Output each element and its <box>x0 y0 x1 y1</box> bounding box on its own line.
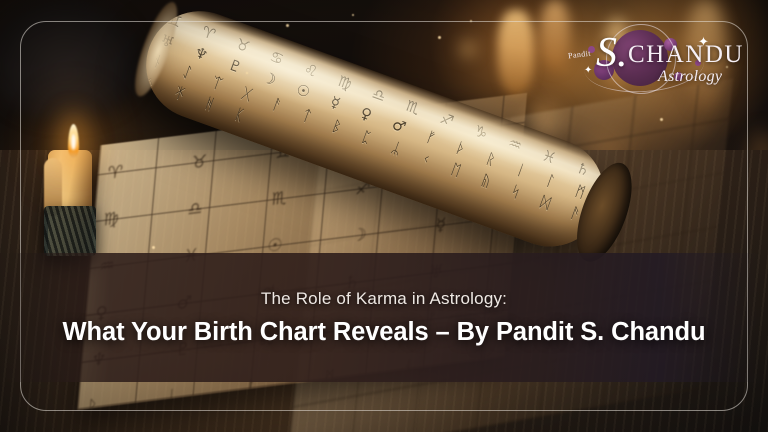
lit-candle <box>42 128 98 256</box>
sparkle <box>152 246 155 249</box>
logo-tagline-text: Astrology <box>658 68 722 86</box>
hero-banner: ♈ ♉ ♊ ♋ ♌ ♍ ♎ ♏ ♐ ♑ ♒ ♓ ☉ ☽ ☿ ♀ ♂ ♃ ♄ ♅ … <box>0 0 768 432</box>
sparkle <box>438 36 441 39</box>
title-overlay-band: The Role of Karma in Astrology: What You… <box>0 253 768 382</box>
bokeh-glow <box>456 34 480 64</box>
background-candle <box>498 10 534 96</box>
sparkle <box>660 118 663 121</box>
sparkle <box>470 20 472 22</box>
brand-logo[interactable]: ✦ ✦ Pandit S. CHANDU Astrology <box>566 24 738 96</box>
candle-rope-wrap <box>44 206 96 256</box>
sparkle <box>286 24 289 27</box>
sparkle <box>246 72 248 74</box>
logo-name-text: CHANDU <box>628 42 744 67</box>
candle-flame-core <box>71 134 76 150</box>
blurred-vessel <box>0 0 140 120</box>
sparkle <box>352 14 354 16</box>
sparkle-star-icon: ✦ <box>584 66 592 76</box>
banner-headline: What Your Birth Chart Reveals – By Pandi… <box>63 318 706 347</box>
title-block: The Role of Karma in Astrology: What You… <box>0 253 768 382</box>
logo-initial-text: S. <box>596 32 628 74</box>
banner-eyebrow: The Role of Karma in Astrology: <box>261 289 507 309</box>
